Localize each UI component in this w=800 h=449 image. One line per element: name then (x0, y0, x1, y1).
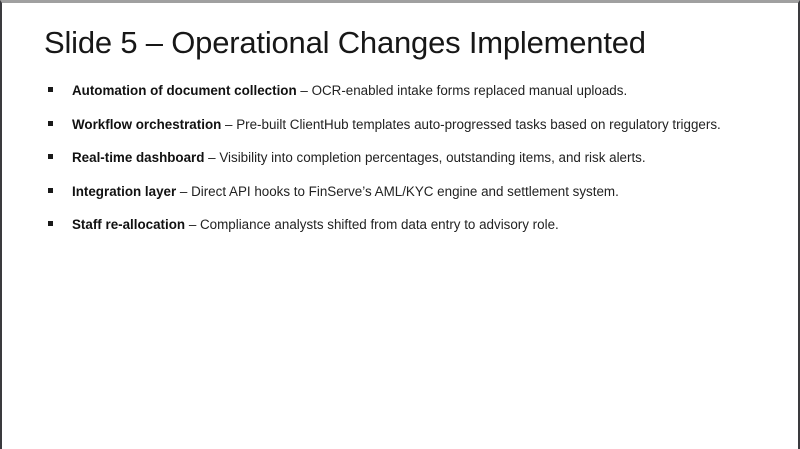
bullet-square-icon (48, 221, 53, 226)
list-item: Workflow orchestration – Pre-built Clien… (46, 113, 758, 136)
list-item-separator: – (297, 83, 312, 98)
list-item: Integration layer – Direct API hooks to … (46, 180, 758, 203)
list-item-text: Visibility into completion percentages, … (219, 150, 645, 165)
list-item-lead: Staff re-allocation (72, 217, 185, 232)
list-item: Real-time dashboard – Visibility into co… (46, 146, 758, 169)
slide-content-area: Slide 5 – Operational Changes Implemente… (2, 3, 798, 449)
list-item-lead: Workflow orchestration (72, 117, 221, 132)
slide-canvas: Slide 5 – Operational Changes Implemente… (0, 0, 800, 449)
list-item: Staff re-allocation – Compliance analyst… (46, 213, 758, 236)
list-item-separator: – (176, 184, 191, 199)
bullet-square-icon (48, 87, 53, 92)
list-item-text: Compliance analysts shifted from data en… (200, 217, 559, 232)
list-item-text: Direct API hooks to FinServe’s AML/KYC e… (191, 184, 619, 199)
list-item-lead: Real-time dashboard (72, 150, 204, 165)
bullet-square-icon (48, 188, 53, 193)
list-item-separator: – (185, 217, 200, 232)
list-item-separator: – (221, 117, 236, 132)
bullet-square-icon (48, 121, 53, 126)
list-item-text: Pre-built ClientHub templates auto-progr… (236, 117, 721, 132)
list-item-lead: Integration layer (72, 184, 176, 199)
list-item: Automation of document collection – OCR-… (46, 79, 758, 102)
bullet-square-icon (48, 154, 53, 159)
list-item-lead: Automation of document collection (72, 83, 297, 98)
list-item-text: OCR-enabled intake forms replaced manual… (312, 83, 628, 98)
page-title: Slide 5 – Operational Changes Implemente… (44, 25, 744, 62)
list-item-separator: – (204, 150, 219, 165)
bullet-list: Automation of document collection – OCR-… (46, 79, 758, 247)
